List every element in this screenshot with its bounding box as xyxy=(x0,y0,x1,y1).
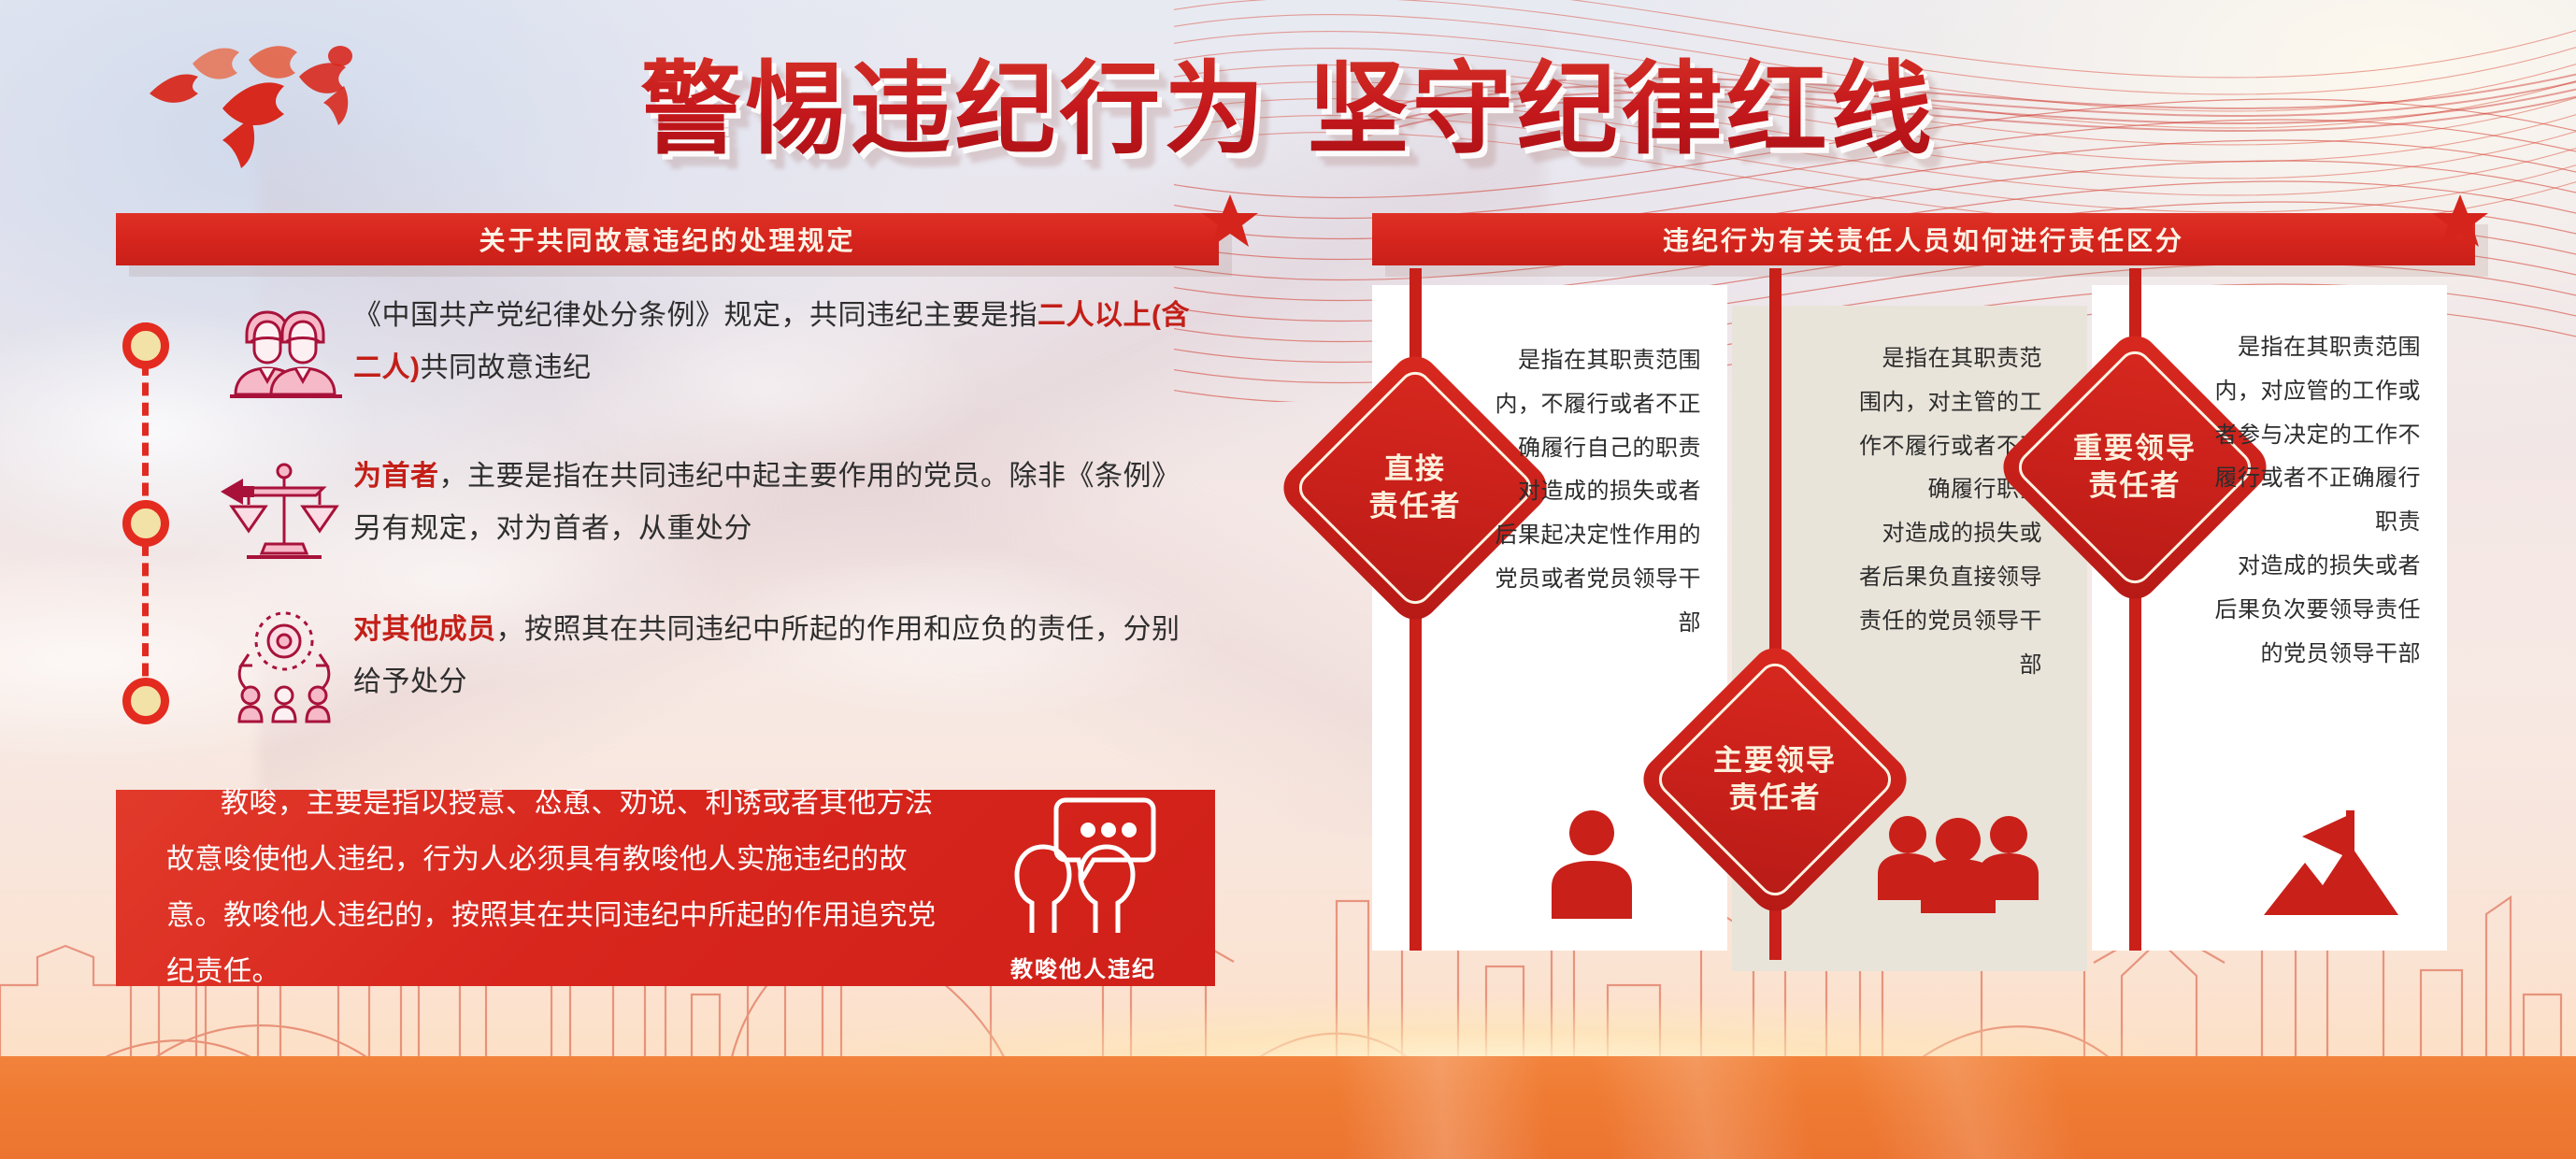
timeline-dot-3 xyxy=(122,678,169,724)
badge-line2-2: 责任者 xyxy=(1729,780,1822,817)
left-item-3-text: 对其他成员，按照其在共同违纪中所起的作用和应负的责任，分别给予处分 xyxy=(353,604,1195,708)
star-icon-left xyxy=(1200,193,1260,250)
responsibility-card-1: 直接 责任者 是指在其职责范围内，不履行或者不正确履行自己的职责 对造成的损失或… xyxy=(1372,285,1727,951)
card-3-para-1: 是指在其职责范围内，对应管的工作或者参与决定的工作不履行或者不正确履行职责 xyxy=(2210,326,2421,545)
left-item-2-text: 为首者，主要是指在共同违纪中起主要作用的党员。除非《条例》另有规定，对为首者，从… xyxy=(353,451,1195,554)
card-2-para-2: 对造成的损失或者后果负直接领导责任的党员领导干部 xyxy=(1852,512,2042,687)
card-1-text: 是指在其职责范围内，不履行或者不正确履行自己的职责 对造成的损失或者后果起决定性… xyxy=(1490,339,1701,646)
single-person-icon xyxy=(1540,808,1643,919)
responsibility-card-3: 重要领导 责任者 是指在其职责范围内，对应管的工作或者参与决定的工作不履行或者不… xyxy=(2092,285,2447,951)
badge-label-1: 直接 责任者 xyxy=(1315,388,1515,588)
responsibility-columns: 直接 责任者 是指在其职责范围内，不履行或者不正确履行自己的职责 对造成的损失或… xyxy=(1372,285,2494,986)
badge-line1-1: 直接 xyxy=(1384,451,1446,488)
callout-icon-caption: 教唆他人违纪 xyxy=(976,951,1191,983)
timeline-dot-2 xyxy=(122,500,169,547)
responsibility-card-2: 主要领导 责任者 是指在其职责范围内，对主管的工作不履行或者不正确履行职责 对造… xyxy=(1732,306,2087,971)
card-1-para-1: 是指在其职责范围内，不履行或者不正确履行自己的职责 xyxy=(1490,339,1701,470)
badge-line2-1: 责任者 xyxy=(1369,488,1462,525)
star-icon-right xyxy=(2430,193,2490,250)
right-panel-header: 违纪行为有关责任人员如何进行责任区分 xyxy=(1372,213,2475,265)
callout-icon-block: 教唆他人违纪 xyxy=(976,793,1215,983)
badge-line2-3: 责任者 xyxy=(2089,467,2182,505)
badge-diamond-1: 直接 责任者 xyxy=(1315,388,1515,588)
poster-root: 警惕违纪行为 坚守纪律红线 关于共同故意违纪的处理规定 xyxy=(0,0,2576,1159)
badge-line1-2: 主要领导 xyxy=(1713,742,1837,780)
right-panel-header-label: 违纪行为有关责任人员如何进行责任区分 xyxy=(1663,221,2184,258)
justice-scale-icon xyxy=(213,451,353,572)
badge-diamond-2: 主要领导 责任者 xyxy=(1675,680,1875,880)
mountain-flag-icon xyxy=(2260,805,2400,919)
gear-people-icon xyxy=(213,604,353,725)
page-title: 警惕违纪行为 坚守纪律红线 xyxy=(640,28,1936,174)
callout-text: 教唆，主要是指以授意、怂恿、劝说、利诱或者其他方法故意唆使他人违纪，行为人必须具… xyxy=(116,776,976,1000)
card-3-text: 是指在其职责范围内，对应管的工作或者参与决定的工作不履行或者不正确履行职责 对造… xyxy=(2210,326,2421,676)
group-people-icon xyxy=(1874,810,2042,913)
ground-light-rays xyxy=(0,1056,2576,1159)
title-container: 警惕违纪行为 坚守纪律红线 xyxy=(0,28,2576,174)
callout-box: 教唆，主要是指以授意、怂恿、劝说、利诱或者其他方法故意唆使他人违纪，行为人必须具… xyxy=(116,790,1215,986)
timeline-track xyxy=(142,322,150,696)
card-1-para-2: 对造成的损失或者后果起决定性作用的党员或者党员领导干部 xyxy=(1490,470,1701,645)
two-people-speech-bubble-icon xyxy=(1004,793,1163,942)
left-item-1-text: 《中国共产党纪律处分条例》规定，共同违纪主要是指二人以上(含二人)共同故意违纪 xyxy=(353,290,1195,393)
card-2-text: 是指在其职责范围内，对主管的工作不履行或者不正确履行职责 对造成的损失或者后果负… xyxy=(1852,337,2042,687)
badge-diamond-3: 重要领导 责任者 xyxy=(2035,367,2235,567)
two-people-icon xyxy=(213,290,353,411)
left-item-3: 对其他成员，按照其在共同违纪中所起的作用和应负的责任，分别给予处分 xyxy=(213,604,1223,725)
card-3-para-2: 对造成的损失或者后果负次要领导责任的党员领导干部 xyxy=(2210,545,2421,676)
badge-label-2: 主要领导 责任者 xyxy=(1675,680,1875,880)
left-panel-header-label: 关于共同故意违纪的处理规定 xyxy=(479,221,855,258)
left-panel-header: 关于共同故意违纪的处理规定 xyxy=(116,213,1219,265)
badge-line1-3: 重要领导 xyxy=(2073,430,2197,467)
left-item-1: 《中国共产党纪律处分条例》规定，共同违纪主要是指二人以上(含二人)共同故意违纪 xyxy=(213,290,1223,411)
badge-label-3: 重要领导 责任者 xyxy=(2035,367,2235,567)
timeline-dot-1 xyxy=(122,322,169,369)
left-item-2: 为首者，主要是指在共同违纪中起主要作用的党员。除非《条例》另有规定，对为首者，从… xyxy=(213,451,1223,572)
